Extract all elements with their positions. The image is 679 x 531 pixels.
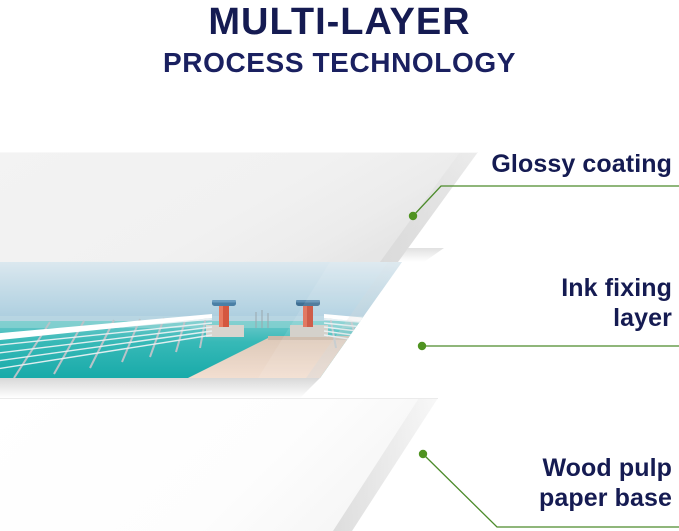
layer-stack-diagram <box>0 0 679 531</box>
wood-label-line-2: paper base <box>539 484 672 512</box>
layer-wood-pulp-paper-base <box>0 398 438 531</box>
leader-dot-ink <box>418 342 426 350</box>
layer-label-glossy-coating: Glossy coating <box>491 149 672 179</box>
leader-dot-wood <box>419 450 427 458</box>
infographic-canvas: MULTI-LAYER PROCESS TECHNOLOGY <box>0 0 679 531</box>
wood-label-line-1: Wood pulp <box>542 454 672 482</box>
ink-layer-shadow <box>0 378 320 398</box>
leader-dot-glossy <box>409 212 417 220</box>
layer-glossy-coating <box>0 152 478 262</box>
leader-line-glossy <box>413 186 679 216</box>
paper-base-slab <box>0 398 438 531</box>
ink-label-line-1: Ink fixing <box>561 274 672 302</box>
layer-label-wood-pulp: Wood pulppaper base <box>539 453 672 513</box>
ink-label-line-2: layer <box>613 304 672 332</box>
layer-label-ink-fixing: Ink fixinglayer <box>561 273 672 333</box>
